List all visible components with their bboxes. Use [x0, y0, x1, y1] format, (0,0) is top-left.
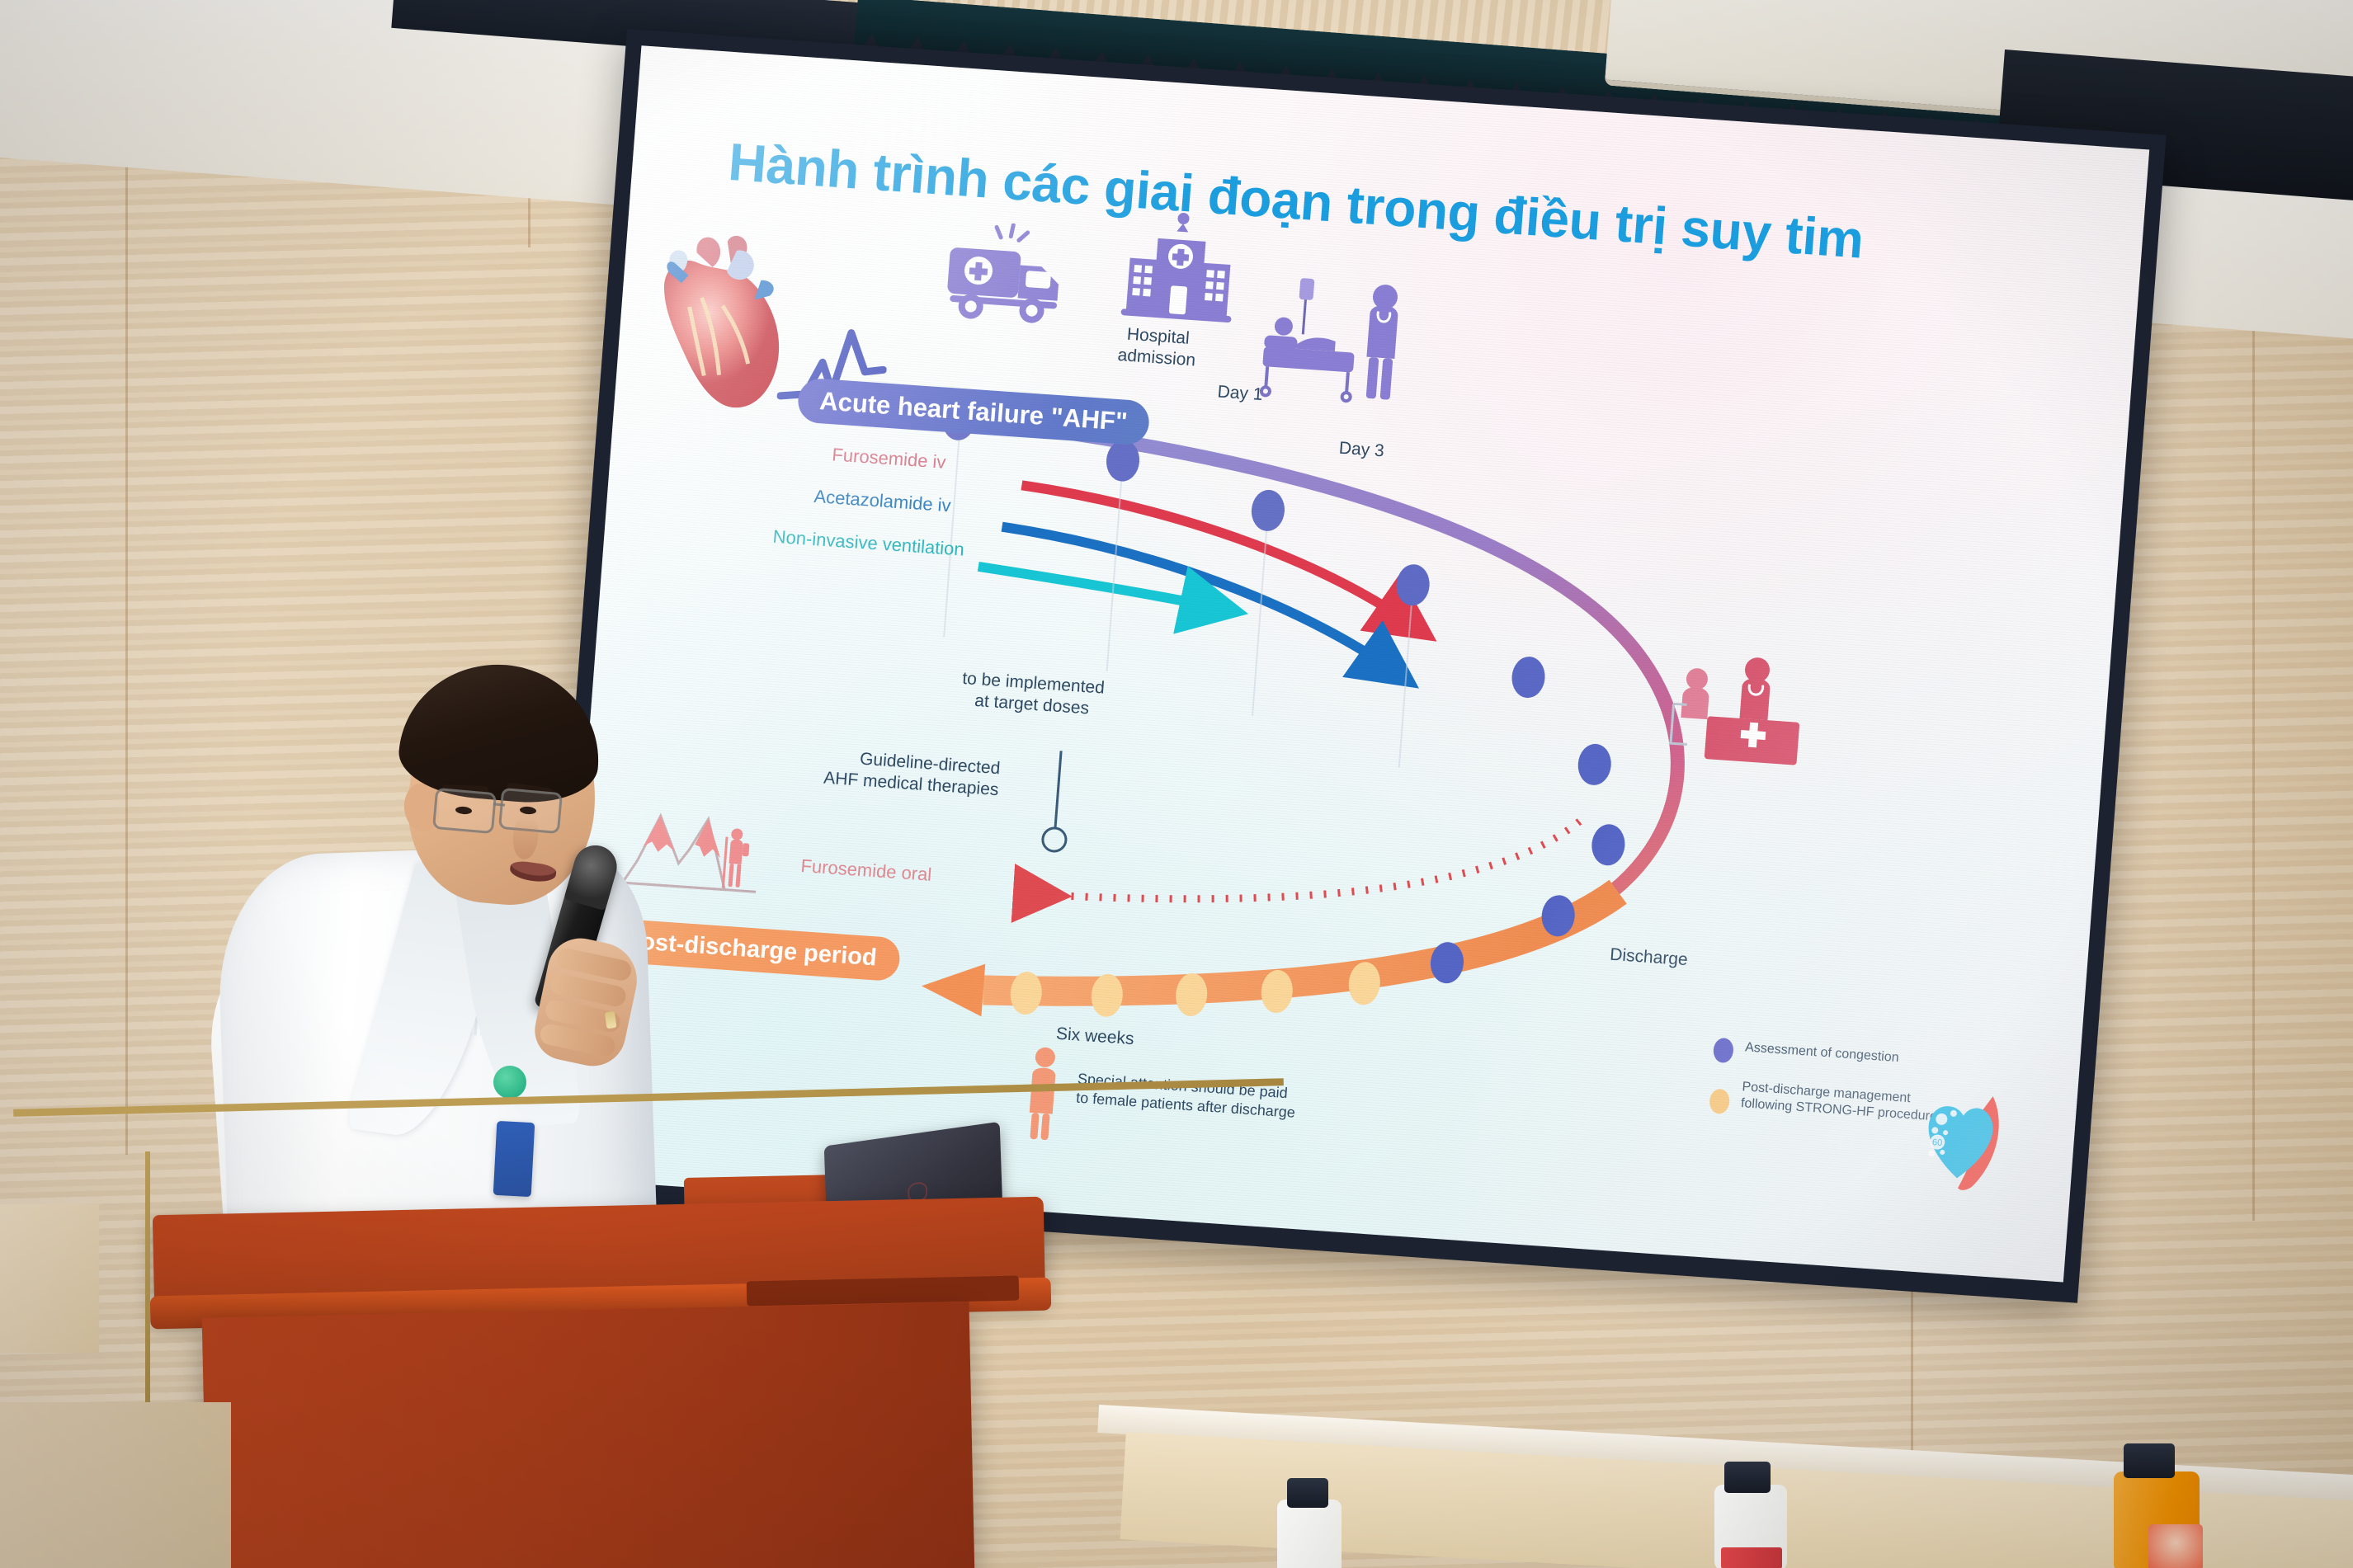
treatment-journey-diagram: Acute heart failure "AHF" Post-discharge…	[556, 186, 2138, 1277]
bottle-cap	[1724, 1462, 1771, 1493]
wall-panel-edge	[0, 1204, 99, 1353]
legend-dot-congestion	[1713, 1038, 1734, 1064]
speaker	[248, 693, 710, 1287]
female-patient-icon	[1018, 1044, 1067, 1142]
ambulance-icon	[940, 219, 1072, 334]
hospital-admission-label: Hospital admission	[1117, 323, 1198, 372]
wall-seam	[125, 124, 128, 1155]
bottle-cap	[2124, 1443, 2175, 1478]
bottle-label	[2148, 1524, 2203, 1568]
patient-in-bed-icon	[1245, 270, 1420, 412]
hospital-building-icon	[1113, 206, 1246, 338]
bottle-label	[1721, 1547, 1782, 1568]
heart-society-logo: 60	[1907, 1087, 2013, 1198]
day1-label: Day 1	[1217, 381, 1264, 406]
doctor-consultation-desk-icon	[1654, 645, 1820, 779]
floor	[0, 1402, 231, 1568]
presentation-photo-scene: Hành trình các giai đoạn trong điều trị …	[0, 0, 2353, 1568]
legend-dot-strong-hf	[1709, 1088, 1730, 1114]
wedding-ring	[605, 1011, 617, 1029]
bottle-cap	[1287, 1478, 1328, 1508]
day3-label: Day 3	[1338, 438, 1385, 463]
wall-seam	[2252, 198, 2255, 1221]
water-bottle[interactable]	[1277, 1500, 1342, 1568]
svg-text:60: 60	[1932, 1137, 1943, 1148]
hospital-id-card	[493, 1121, 535, 1197]
podium-body	[202, 1302, 975, 1568]
projection-screen: Hành trình các giai đoạn trong điều trị …	[538, 29, 2166, 1303]
badge-reel	[493, 1066, 526, 1099]
